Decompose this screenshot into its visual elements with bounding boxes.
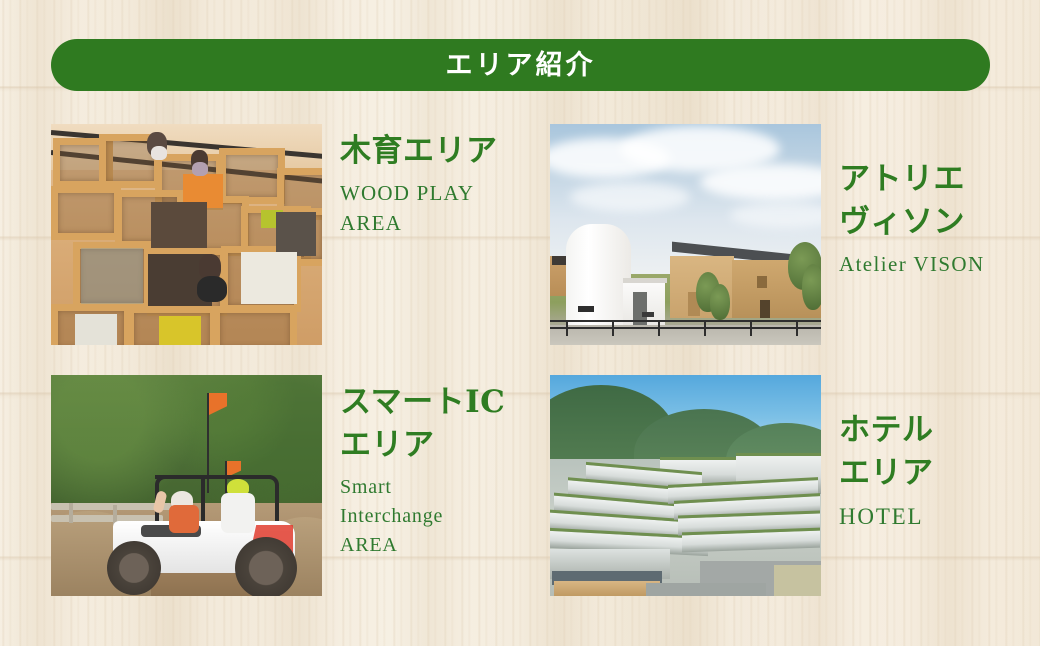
area-card-atelier-vison[interactable]: アトリエ ヴィソン Atelier VISON: [550, 124, 985, 345]
cylindrical-tower: [566, 224, 631, 332]
area-card-smart-interchange[interactable]: スマートIC エリア Smart Interchange AREA: [51, 375, 505, 596]
area-title-en: Smart Interchange AREA: [340, 473, 505, 560]
area-title-jp: アトリエ ヴィソン: [839, 158, 985, 244]
area-card-labels: スマートIC エリア Smart Interchange AREA: [322, 375, 505, 560]
area-introduction-page: エリア紹介: [0, 0, 1040, 646]
area-card-labels: 木育エリア WOOD PLAY AREA: [322, 124, 498, 238]
buggy-ride-photo: [51, 375, 322, 596]
section-header-banner: エリア紹介: [51, 39, 990, 91]
area-card-labels: ホテル エリア HOTEL: [821, 375, 934, 533]
area-title-en: HOTEL: [839, 501, 934, 534]
page-title: エリア紹介: [446, 52, 596, 79]
atelier-vison-building-photo: [550, 124, 821, 345]
area-title-jp: ホテル エリア: [839, 409, 934, 495]
area-card-wood-play-area[interactable]: 木育エリア WOOD PLAY AREA: [51, 124, 498, 345]
area-title-en: WOOD PLAY AREA: [340, 179, 498, 239]
hotel-aerial-photo: [550, 375, 821, 596]
area-card-hotel[interactable]: ホテル エリア HOTEL: [550, 375, 934, 596]
area-title-jp: 木育エリア: [340, 130, 498, 173]
area-title-en: Atelier VISON: [839, 250, 985, 280]
area-title-jp: スマートIC エリア: [340, 381, 505, 467]
area-card-labels: アトリエ ヴィソン Atelier VISON: [821, 124, 985, 279]
wood-play-structure-photo: [51, 124, 322, 345]
